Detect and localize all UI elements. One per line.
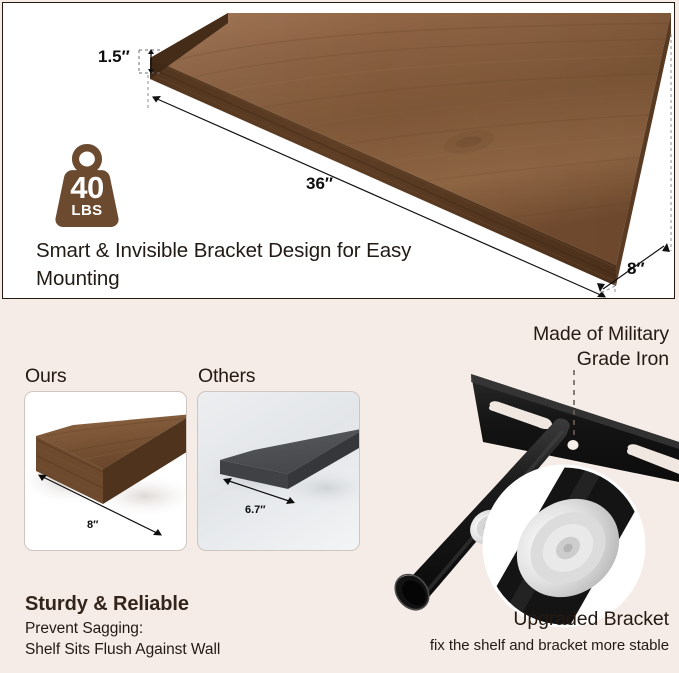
dimension-label-depth: 8″ <box>627 259 645 279</box>
product-infographic: 1.5″ 36″ 8″ 40 LBS Smart & Invisible Bra… <box>0 0 679 673</box>
bracket-set-screw <box>463 503 513 552</box>
dimension-label-thickness: 1.5″ <box>98 47 130 67</box>
sturdy-subtitle: Prevent Sagging: Shelf Sits Flush Agains… <box>25 619 220 660</box>
dimension-thickness-guide <box>139 50 163 73</box>
comparison-box-ours: 8″ <box>24 391 187 551</box>
dimension-depth-guide <box>601 34 671 293</box>
others-dimension-label: 6.7″ <box>245 504 266 516</box>
top-panel-headline: Smart & Invisible Bracket Design for Eas… <box>36 237 486 294</box>
comparison-label-ours: Ours <box>25 365 66 388</box>
ours-shelf-illustration <box>25 392 186 550</box>
upgraded-bracket-title: Upgraded Bracket <box>349 608 669 631</box>
ours-dimension-label: 8″ <box>87 519 98 531</box>
military-iron-title-line2: Grade Iron <box>577 348 669 370</box>
top-feature-panel: 1.5″ 36″ 8″ 40 LBS Smart & Invisible Bra… <box>2 2 675 299</box>
sturdy-subtitle-line1: Prevent Sagging: <box>25 620 143 637</box>
dimension-label-length: 36″ <box>306 174 333 194</box>
bracket-support-rod <box>388 418 570 617</box>
others-shelf-illustration <box>198 392 359 550</box>
upgraded-bracket-subtitle: fix the shelf and bracket more stable <box>339 637 669 654</box>
bottom-section: Ours Others <box>0 310 679 673</box>
weight-value: 40 <box>48 172 126 203</box>
sturdy-title: Sturdy & Reliable <box>25 593 189 616</box>
weight-unit: LBS <box>48 203 126 218</box>
weight-capacity-badge: 40 LBS <box>48 142 126 227</box>
comparison-label-others: Others <box>198 365 255 388</box>
bracket-wall-plate <box>471 374 679 482</box>
military-iron-title: Made of Military Grade Iron <box>369 322 669 371</box>
sturdy-subtitle-line2: Shelf Sits Flush Against Wall <box>25 641 220 658</box>
comparison-box-others: 6.7″ <box>197 391 360 551</box>
military-iron-title-line1: Made of Military <box>533 323 669 345</box>
